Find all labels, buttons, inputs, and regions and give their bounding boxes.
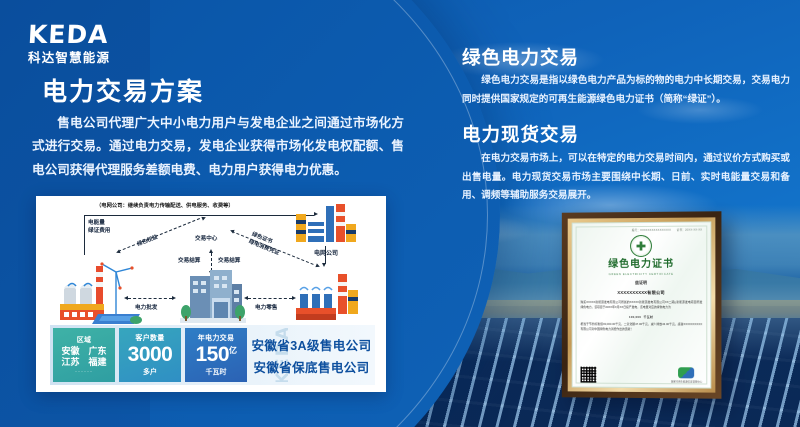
certificate-title: 绿色电力证书 xyxy=(608,260,674,270)
diagram-label-trading-center: 交易中心 xyxy=(195,236,217,244)
certificate-company: XXXXXXXXXX有限公司 xyxy=(617,290,664,296)
logo-wordmark: KEDA xyxy=(27,22,111,47)
diagram-label-green-rights: 绿色权益 xyxy=(136,234,159,249)
certificate-body: 购买XXXXX新能源发电有限公司所属的XXXXX新能源发电有限公司XX二期ը新能… xyxy=(581,300,703,309)
section-paragraph-green-trading: 绿色电力交易是指以绿色电力产品为标的物的电力中长期交易，交易电力同时提供国家规定… xyxy=(462,72,790,109)
stat-region-line2: 江苏 福建 xyxy=(61,357,106,368)
diagram-label-settlement-left: 交易结算 xyxy=(178,258,200,266)
stat-volume-suffix: 亿 xyxy=(229,346,237,355)
certificate-issuer: 国家可再生能源信息管理中心 xyxy=(671,367,702,384)
diagram-label-energy: 电能量 xyxy=(88,220,105,226)
diagram-node-grid: 电网公司 xyxy=(303,248,349,257)
certificate-subtitle: 兹证明 xyxy=(635,280,647,286)
certificate-amount-wrap: 100,000 千瓦时 xyxy=(629,311,653,320)
certificate-top-code: 编号：XXXXXXXXXXXXXXXX 证书：20XX-XX-XX xyxy=(581,228,703,233)
diagram-line-top-drop xyxy=(84,215,85,255)
stat-volume-value: 150 xyxy=(195,343,229,366)
logo-subtitle: 科达智慧能源 xyxy=(28,52,110,65)
certificate-amount: 100,000 xyxy=(629,315,641,319)
stat-customers-unit: 多户 xyxy=(143,367,157,377)
stat-region: 区域 安徽 广东 江苏 福建 ······ xyxy=(53,328,115,382)
diagram-label-energy-fee: 电能量 绿证费用 xyxy=(88,220,110,235)
diagram-arrow-wholesale-right xyxy=(172,296,176,300)
stat-region-values: 安徽 广东 江苏 福建 xyxy=(61,346,106,369)
diagram-arrow-green-cert-down xyxy=(315,263,320,268)
issuer-name: 国家可再生能源信息管理中心 xyxy=(671,379,702,383)
certificate-footer: 国家可再生能源信息管理中心 xyxy=(581,366,703,383)
diagram-top-note: （电网公司：继续负责电力传输配送、供电服务、收费等） xyxy=(96,201,234,209)
stat-volume-value-wrap: 150亿 xyxy=(195,344,236,366)
diagram-label-green-fee: 绿证费用 xyxy=(88,228,110,234)
diagram-line-top xyxy=(84,215,314,216)
generator-plant-icon xyxy=(58,258,144,326)
intro-paragraph: 售电公司代理广大中小电力用户与发电企业之间通过市场化方式进行交易。通过电力交易，… xyxy=(32,112,404,182)
issuer-logo-icon xyxy=(679,367,695,378)
content-layer: KEDA 科达智慧能源 电力交易方案 售电公司代理广大中小电力用户与发电企业之间… xyxy=(0,0,800,427)
brand-logo: KEDA 科达智慧能源 xyxy=(28,22,110,65)
stat-customers-value: 3000 xyxy=(128,344,173,366)
stat-badges: KEDA 安徽省3A级售电公司 安徽省保底售电公司 xyxy=(251,328,372,382)
diagram-label-green-cert: 绿色证书 绿电消费凭证 xyxy=(247,231,283,257)
grid-company-icon xyxy=(294,202,358,246)
section-heading-green-trading: 绿色电力交易 xyxy=(462,44,579,70)
diagram-arrow-green-rights-down xyxy=(115,249,120,254)
stat-customers: 客户数量 3000 多户 xyxy=(119,328,181,382)
certificate-frame: 编号：XXXXXXXXXXXXXXXX 证书：20XX-XX-XX 绿色电力证书… xyxy=(562,211,722,398)
diagram-label-retail: 电力零售 xyxy=(255,305,277,313)
slide-canvas: KEDA 科达智慧能源 电力交易方案 售电公司代理广大中小电力用户与发电企业之间… xyxy=(0,0,800,427)
qr-code-icon xyxy=(581,367,597,383)
diagram-arrow-grid-to-user xyxy=(322,263,326,267)
certificate-title-en: GREEN ELECTRICITY CERTIFICATE xyxy=(609,272,674,276)
badge-3a-company: 安徽省3A级售电公司 xyxy=(252,335,372,354)
section-paragraph-spot-trading: 在电力交易市场上，可以在特定的电力交易时间内，通过议价方式购买或出售电量。电力现… xyxy=(462,150,790,206)
stat-volume-unit: 千瓦时 xyxy=(206,367,227,377)
certificate-frame-matting: 编号：XXXXXXXXXXXXXXXX 证书：20XX-XX-XX 绿色电力证书… xyxy=(568,217,716,392)
stat-customers-caption: 客户数量 xyxy=(135,333,164,343)
green-electricity-certificate: 编号：XXXXXXXXXXXXXXXX 证书：20XX-XX-XX 绿色电力证书… xyxy=(572,221,712,388)
diagram-line-green-rights xyxy=(118,218,200,252)
stat-region-ellipsis: ······ xyxy=(75,369,93,375)
certificate-body-secondary: 相当于节约标准煤49,000.00千克，二氧化碳47.00千克，减少排放43.0… xyxy=(581,322,703,332)
section-heading-spot-trading: 电力现货交易 xyxy=(462,121,579,147)
user-factory-icon xyxy=(294,270,360,326)
stat-region-caption: 区域 xyxy=(77,335,92,345)
stats-strip: 区域 安徽 广东 江苏 福建 ······ 客户数量 3000 多户 年电力交易… xyxy=(50,325,375,385)
badge-backstop-company: 安徽省保底售电公司 xyxy=(253,357,369,376)
diagram-arrow-green-rights-up xyxy=(201,215,206,220)
stat-region-line1: 安徽 广东 xyxy=(61,346,106,357)
diagram-line-retail xyxy=(248,298,292,299)
diagram-label-settlement-right: 交易结算 xyxy=(218,258,240,266)
retailer-building-icon xyxy=(178,268,248,328)
stat-volume: 年电力交易 150亿 千瓦时 xyxy=(185,328,247,382)
diagram-arrow-settlement-up xyxy=(209,249,213,253)
page-title: 电力交易方案 xyxy=(42,72,204,108)
certificate-seal-icon xyxy=(630,235,652,257)
certificate-amount-unit: 千瓦时 xyxy=(644,315,654,319)
stat-volume-caption: 年电力交易 xyxy=(198,333,235,343)
